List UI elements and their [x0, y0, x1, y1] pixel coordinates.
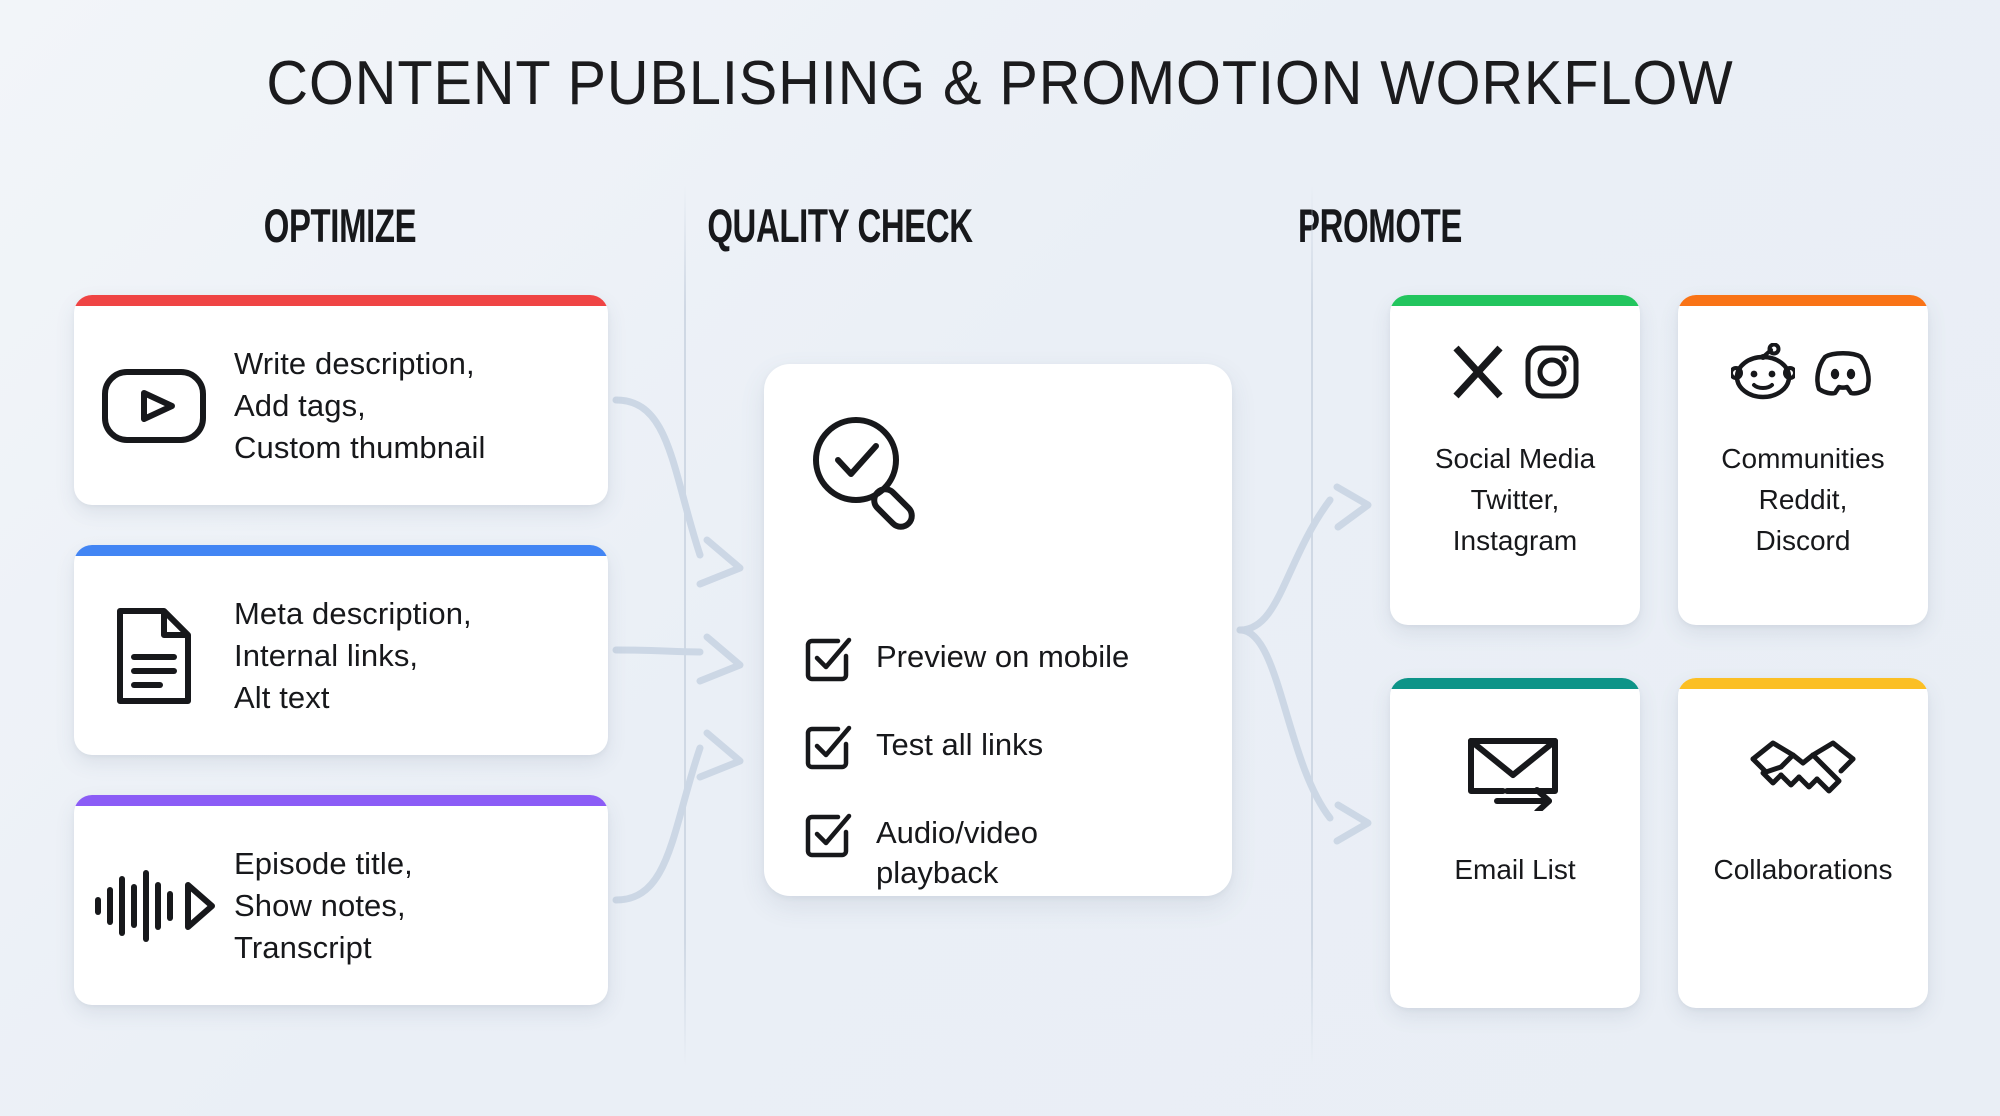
- card-line: Email List: [1454, 849, 1575, 890]
- column-divider-right: [1311, 185, 1313, 1065]
- card-line: Communities: [1721, 438, 1884, 479]
- optimize-card-podcast[interactable]: Episode title, Show notes, Transcript: [74, 795, 608, 1005]
- optimize-card-seo[interactable]: Meta description, Internal links, Alt te…: [74, 545, 608, 755]
- column-header-optimize: OPTIMIZE: [130, 198, 550, 253]
- reddit-icon: [1731, 343, 1795, 401]
- discord-icon: [1811, 343, 1875, 401]
- quality-check-label: Test all links: [876, 722, 1043, 765]
- card-line: Episode title,: [234, 843, 413, 885]
- quality-check-item[interactable]: Test all links: [804, 722, 1043, 770]
- card-line: Add tags,: [234, 385, 485, 427]
- audio-waveform-icon: [74, 867, 234, 945]
- promote-card-social-media-text: Social Media Twitter, Instagram: [1435, 438, 1595, 561]
- card-line: Instagram: [1435, 520, 1595, 561]
- quality-check-label: Audio/video playback: [876, 810, 1076, 893]
- card-accent-bar: [1390, 678, 1640, 689]
- magnifier-check-icon: [804, 408, 932, 536]
- card-line: Custom thumbnail: [234, 427, 485, 469]
- card-line: Meta description,: [234, 593, 472, 635]
- card-line: Alt text: [234, 677, 472, 719]
- optimize-card-video[interactable]: Write description, Add tags, Custom thum…: [74, 295, 608, 505]
- card-line: Discord: [1721, 520, 1884, 561]
- promote-card-collaborations-text: Collaborations: [1714, 849, 1893, 890]
- card-line: Twitter,: [1435, 479, 1595, 520]
- page-title: CONTENT PUBLISHING & PROMOTION WORKFLOW: [70, 48, 1930, 119]
- email-envelope-arrow-icon: [1463, 727, 1567, 811]
- promote-card-email-list-text: Email List: [1454, 849, 1575, 890]
- quality-check-item[interactable]: Preview on mobile: [804, 634, 1129, 682]
- document-icon: [74, 605, 234, 707]
- promote-card-social-media[interactable]: Social Media Twitter, Instagram: [1390, 295, 1640, 625]
- quality-check-item[interactable]: Audio/video playback: [804, 810, 1076, 893]
- card-line: Social Media: [1435, 438, 1595, 479]
- handshake-icon: [1747, 729, 1859, 809]
- column-header-quality-check: QUALITY CHECK: [630, 198, 1050, 253]
- card-accent-bar: [74, 295, 608, 306]
- card-line: Write description,: [234, 343, 485, 385]
- workflow-diagram: CONTENT PUBLISHING & PROMOTION WORKFLOW …: [0, 0, 2000, 1116]
- optimize-card-seo-text: Meta description, Internal links, Alt te…: [234, 593, 472, 719]
- promote-card-collaborations[interactable]: Collaborations: [1678, 678, 1928, 1008]
- instagram-icon: [1523, 343, 1581, 401]
- checkbox-checked-icon[interactable]: [804, 722, 852, 770]
- column-divider-left: [684, 185, 686, 1065]
- card-accent-bar: [74, 545, 608, 556]
- card-line: Reddit,: [1721, 479, 1884, 520]
- promote-card-communities-text: Communities Reddit, Discord: [1721, 438, 1884, 561]
- optimize-card-podcast-text: Episode title, Show notes, Transcript: [234, 843, 413, 969]
- card-line: Internal links,: [234, 635, 472, 677]
- column-header-promote: PROMOTE: [1170, 198, 1590, 253]
- card-accent-bar: [1390, 295, 1640, 306]
- promote-card-communities[interactable]: Communities Reddit, Discord: [1678, 295, 1928, 625]
- youtube-play-icon: [74, 367, 234, 445]
- checkbox-checked-icon[interactable]: [804, 634, 852, 682]
- checkbox-checked-icon[interactable]: [804, 810, 852, 858]
- card-accent-bar: [1678, 678, 1928, 689]
- card-accent-bar: [74, 795, 608, 806]
- card-line: Collaborations: [1714, 849, 1893, 890]
- quality-check-label: Preview on mobile: [876, 634, 1129, 677]
- card-line: Transcript: [234, 927, 413, 969]
- card-accent-bar: [1678, 295, 1928, 306]
- x-twitter-icon: [1449, 343, 1507, 401]
- card-line: Show notes,: [234, 885, 413, 927]
- promote-card-email-list[interactable]: Email List: [1390, 678, 1640, 1008]
- quality-check-panel[interactable]: Preview on mobile Test all links Audio/v…: [764, 364, 1232, 896]
- optimize-card-video-text: Write description, Add tags, Custom thum…: [234, 343, 485, 469]
